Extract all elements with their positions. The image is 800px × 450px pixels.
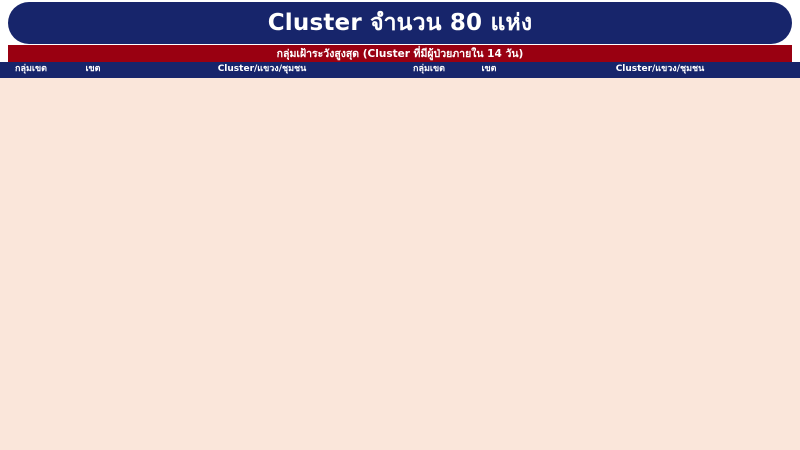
subtitle-banner: กลุ่มเฝ้าระวังสูงสุด (Cluster ที่มีผู้ป่…: [8, 45, 792, 62]
cluster-report-page: Cluster จำนวน 80 แห่ง กลุ่มเฝ้าระวังสูงส…: [0, 0, 800, 450]
left-table-body: [1, 78, 400, 450]
table-header-row: กลุ่มเขต เขต Cluster/แขวง/ชุมชน: [1, 63, 400, 78]
left-table-panel: กลุ่มเขต เขต Cluster/แขวง/ชุมชน: [0, 62, 400, 450]
col-header-group: กลุ่มเขต: [401, 63, 458, 78]
col-header-zone: เขต: [62, 63, 125, 78]
col-header-cluster: Cluster/แขวง/ชุมชน: [125, 63, 400, 78]
cluster-table-left: กลุ่มเขต เขต Cluster/แขวง/ชุมชน: [0, 62, 400, 450]
table-header-row: กลุ่มเขต เขต Cluster/แขวง/ชุมชน: [401, 63, 800, 78]
col-header-zone: เขต: [458, 63, 521, 78]
page-title-text: Cluster จำนวน 80 แห่ง: [268, 5, 533, 41]
cluster-table-right: กลุ่มเขต เขต Cluster/แขวง/ชุมชน: [400, 62, 800, 450]
page-title: Cluster จำนวน 80 แห่ง: [8, 2, 792, 44]
col-header-group: กลุ่มเขต: [1, 63, 62, 78]
right-table-panel: กลุ่มเขต เขต Cluster/แขวง/ชุมชน: [400, 62, 800, 450]
subtitle-text: กลุ่มเฝ้าระวังสูงสุด (Cluster ที่มีผู้ป่…: [277, 45, 524, 62]
right-table-body: [401, 78, 800, 450]
col-header-cluster: Cluster/แขวง/ชุมชน: [521, 63, 800, 78]
